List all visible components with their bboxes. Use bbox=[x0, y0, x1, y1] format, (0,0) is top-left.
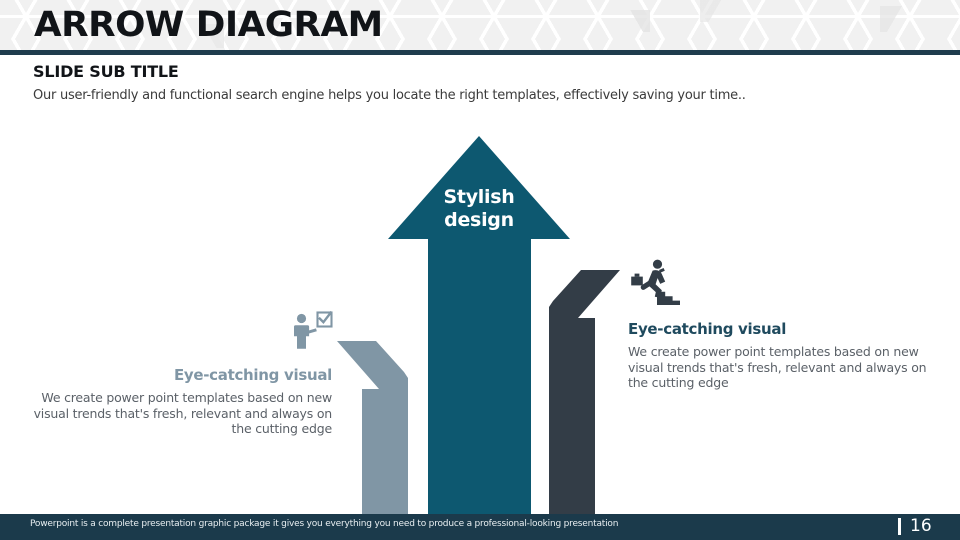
businessman-climbing-stairs-icon bbox=[628, 258, 680, 310]
left-block-heading: Eye-catching visual bbox=[28, 366, 332, 384]
left-block-body: We create power point templates based on… bbox=[28, 390, 332, 437]
left-arrow-shape bbox=[337, 341, 408, 514]
right-arrow-shape bbox=[549, 270, 620, 514]
center-arrow-label-line2: design bbox=[406, 209, 552, 232]
slide: ARROW DIAGRAM SLIDE SUB TITLE Our user-f… bbox=[0, 0, 960, 540]
footer-separator bbox=[898, 518, 901, 535]
left-text-block: Eye-catching visual We create power poin… bbox=[28, 366, 332, 437]
right-block-body: We create power point templates based on… bbox=[628, 344, 938, 391]
right-block-heading: Eye-catching visual bbox=[628, 320, 938, 338]
page-number: 16 bbox=[910, 516, 932, 536]
footer-text: Powerpoint is a complete presentation gr… bbox=[30, 519, 618, 529]
center-arrow-label: Stylish design bbox=[406, 186, 552, 232]
right-text-block: Eye-catching visual We create power poin… bbox=[628, 320, 938, 391]
arrow-diagram-graphic bbox=[0, 0, 960, 540]
center-arrow-label-line1: Stylish bbox=[406, 186, 552, 209]
person-checklist-icon bbox=[288, 310, 334, 360]
